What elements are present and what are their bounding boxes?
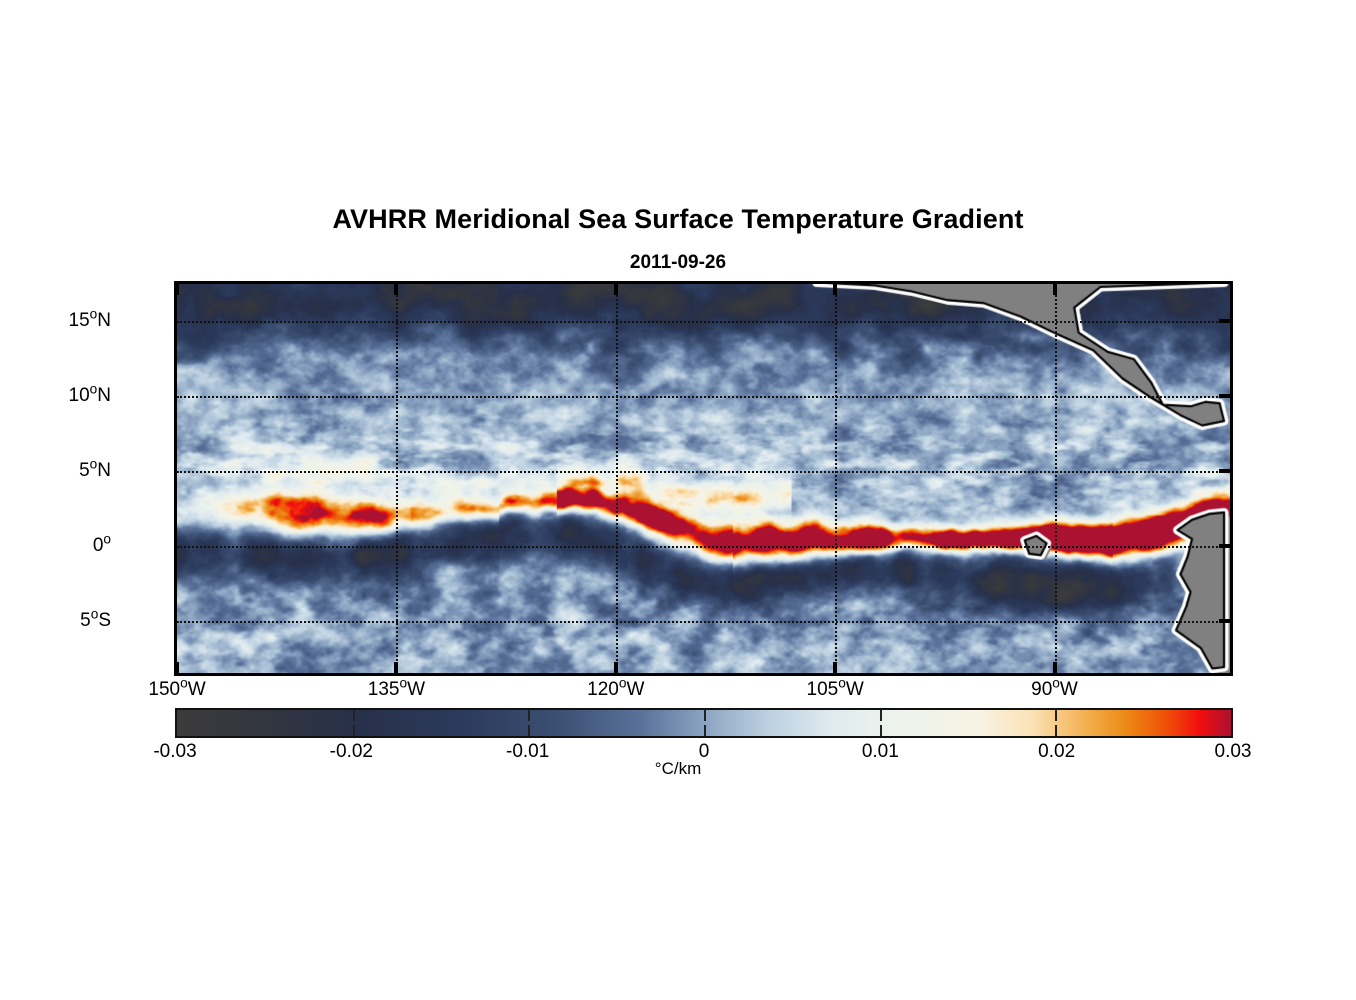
tick-lon [833,662,837,673]
tick-lon-top [1053,284,1057,295]
page-date: 2011-09-26 [0,252,1356,274]
tick-lat [1219,394,1230,398]
colorbar-tick [353,725,355,736]
tick-lat [174,469,177,473]
y-axis-label: 10oN [69,385,111,407]
colorbar [175,708,1233,738]
y-axis-label: 5oN [79,460,111,482]
colorbar-tick [528,725,530,736]
y-axis-label: 5oS [80,610,111,632]
colorbar-tick [704,710,706,721]
x-axis-label: 105oW [807,679,864,701]
x-axis-label: 120oW [587,679,644,701]
tick-lat [1219,319,1230,323]
colorbar-unit-label: °C/km [0,759,1356,779]
tick-lat [1219,619,1230,623]
colorbar-tick [1055,725,1057,736]
colorbar-tick [880,725,882,736]
colorbar-tick [1055,710,1057,721]
tick-lat [1219,469,1230,473]
tick-lon-top [394,284,398,295]
tick-lon [1053,662,1057,673]
colorbar-tick [528,710,530,721]
y-axis-label: 0o [93,535,111,557]
map-plot-area [174,281,1233,676]
tick-lon [394,662,398,673]
tick-lon [175,662,179,673]
tick-lon-top [833,284,837,295]
x-axis-label: 90oW [1031,679,1078,701]
colorbar-tick [704,725,706,736]
tick-lat [1219,544,1230,548]
tick-lat [174,544,177,548]
tick-lat [174,619,177,623]
tick-lat [174,394,177,398]
tick-lon-top [175,284,179,295]
tick-lon [614,662,618,673]
page-title: AVHRR Meridional Sea Surface Temperature… [0,204,1356,235]
y-axis-label: 15oN [69,310,111,332]
colorbar-tick [353,710,355,721]
tick-lon-top [614,284,618,295]
sst-gradient-field [177,284,1230,673]
tick-lat [174,319,177,323]
x-axis-label: 135oW [368,679,425,701]
colorbar-tick [880,710,882,721]
x-axis-label: 150oW [148,679,205,701]
